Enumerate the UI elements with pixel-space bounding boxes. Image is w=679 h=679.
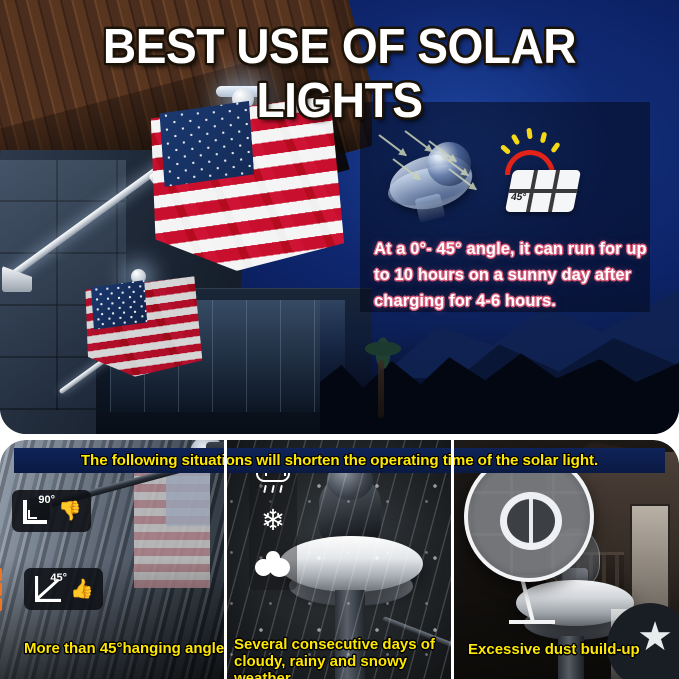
rain-drop — [279, 485, 283, 493]
infographic-root: 45° At a 0°- 45° angle, it can run for u… — [0, 0, 679, 679]
caption-bad-weather: Several consecutive days of cloudy, rain… — [234, 636, 448, 679]
angle-90-label: 90° — [38, 494, 55, 506]
light-stem — [414, 193, 445, 223]
magnifier-pointer-line — [509, 620, 555, 624]
sun-ray — [540, 132, 548, 144]
battery-level-bars — [0, 568, 2, 614]
panel-divider-2 — [451, 440, 454, 679]
cloud-puff — [269, 558, 290, 577]
panel-angle-label: 45° — [510, 192, 527, 203]
caption-dust-build-up: Excessive dust build-up — [468, 641, 640, 658]
sun-ray — [526, 128, 532, 140]
hero-section: 45° At a 0°- 45° angle, it can run for u… — [0, 0, 679, 434]
rain-drop — [271, 485, 275, 493]
flag-canton-panel1 — [166, 468, 210, 526]
angle-90-icon: 90° — [21, 496, 51, 526]
hero-callout-text: At a 0°- 45° angle, it can run for up to… — [374, 236, 656, 314]
warning-banner: The following situations will shorten th… — [14, 448, 665, 473]
solar-panel-glyph — [505, 170, 581, 212]
caption-hanging-angle: More than 45°hanging angle — [24, 640, 224, 657]
flag-canton-small — [88, 280, 147, 330]
angle-45-label: 45° — [50, 572, 67, 584]
sun-ray — [511, 133, 521, 145]
badge-90-degree: 90° 👎 — [12, 490, 91, 532]
cloud-icon — [255, 551, 291, 577]
sun-ray — [500, 144, 512, 155]
sun-ray-arrow — [378, 134, 406, 156]
flag-stars-small — [88, 280, 147, 330]
thumbs-up-icon: 👍 — [70, 580, 94, 599]
snowflake-icon: ❄ — [261, 507, 285, 536]
sun-solar-panel-icon: 45° — [483, 126, 589, 220]
section-divider — [0, 434, 679, 440]
page-title: BEST USE OF SOLAR LIGHTS — [20, 20, 658, 128]
panel-divider-1 — [224, 440, 227, 679]
dusty-panel-closeup — [500, 492, 562, 550]
badge-45-degree: 45° 👍 — [24, 568, 103, 610]
warning-banner-text: The following situations will shorten th… — [81, 452, 598, 469]
thumbs-down-icon: 👎 — [58, 502, 82, 521]
palm-trunk — [378, 360, 384, 418]
front-door — [630, 504, 670, 616]
angle-45-icon: 45° — [33, 574, 63, 604]
tilted-solar-light-icon — [383, 128, 487, 220]
sun-ray — [550, 142, 561, 154]
rain-drop — [263, 485, 267, 493]
star-icon: ★ — [637, 617, 673, 657]
right-angle-marker — [28, 510, 37, 519]
